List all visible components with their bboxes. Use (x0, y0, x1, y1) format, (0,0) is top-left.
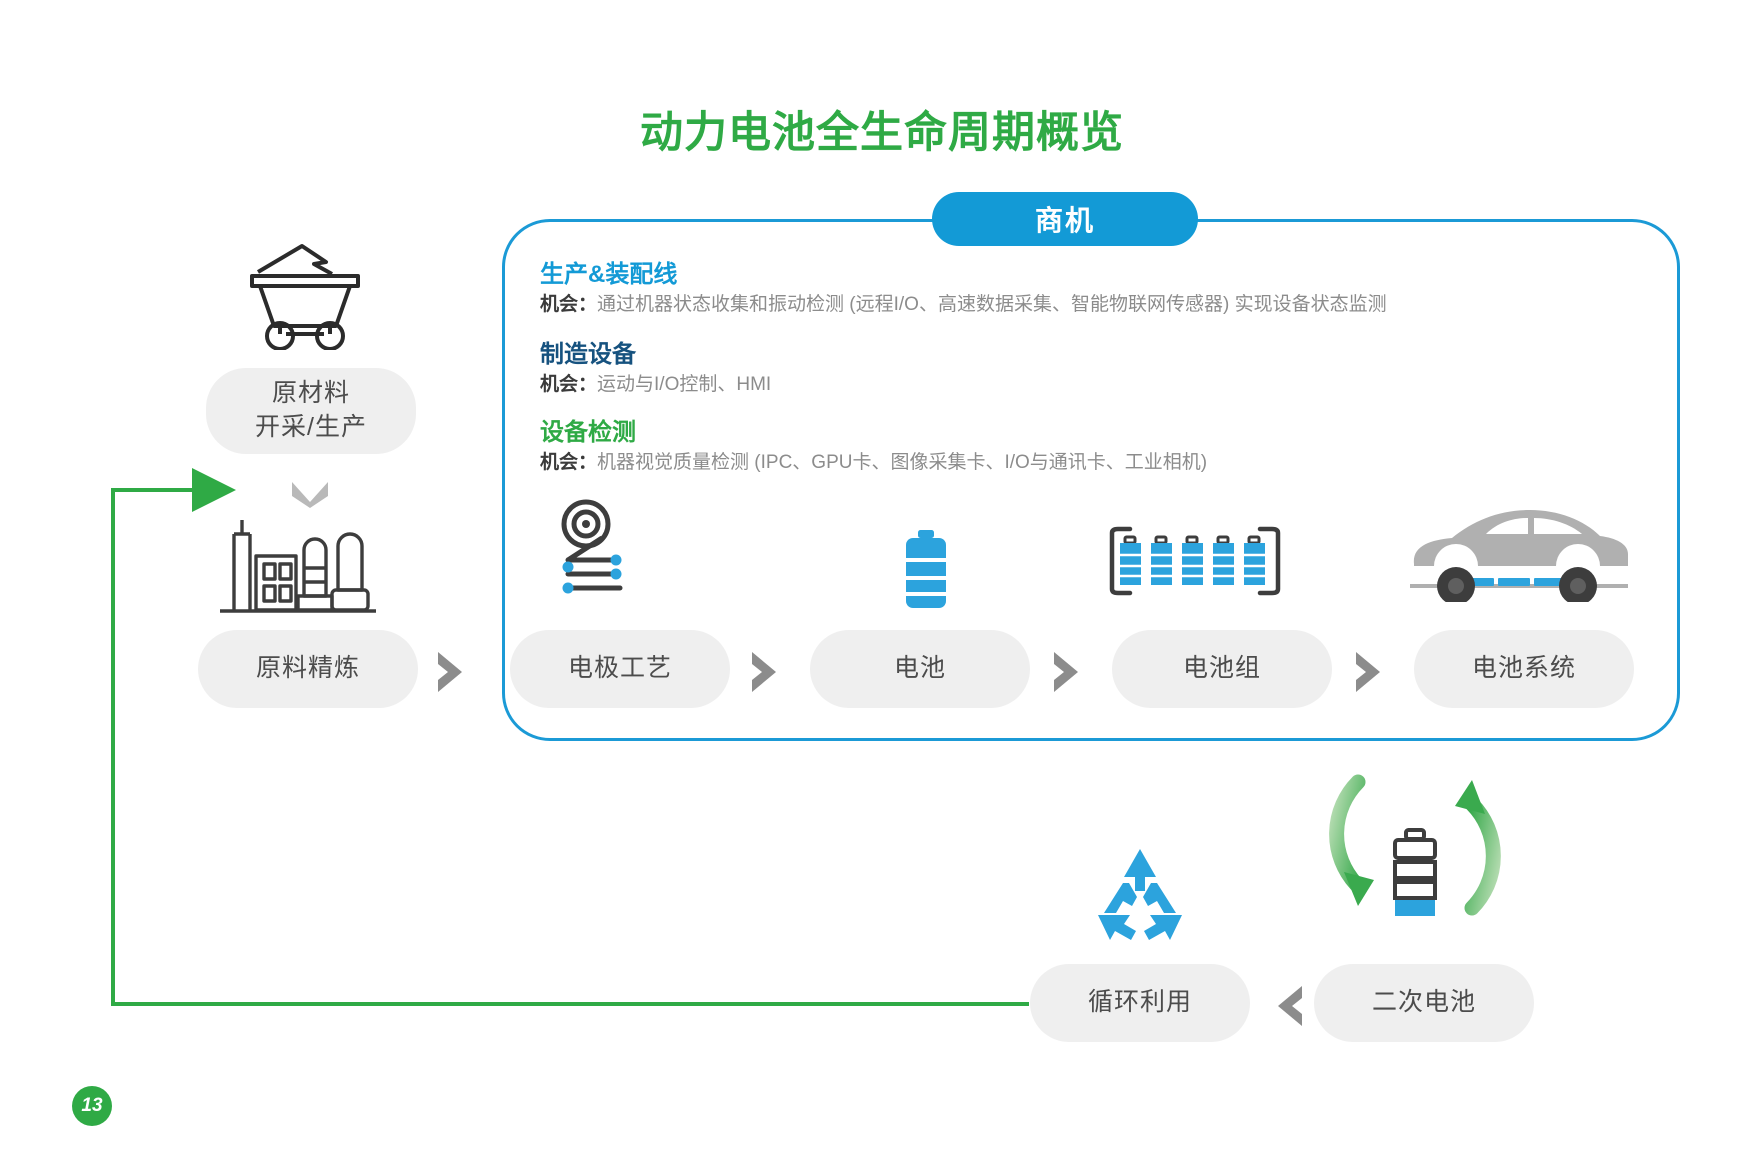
recycle-icon (1090, 845, 1190, 941)
stage-label-line1: 原材料 (255, 377, 367, 411)
stage-pill-recycle[interactable]: 循环利用 (1030, 964, 1250, 1042)
ev-car-icon (1400, 492, 1638, 602)
battery-cell-icon (898, 528, 954, 614)
opportunity-text: 通过机器状态收集和振动检测 (远程I/O、高速数据采集、智能物联网传感器) 实现… (597, 294, 1387, 315)
stage-pill-system[interactable]: 电池系统 (1414, 630, 1634, 708)
opportunity-label: 机会： (540, 374, 597, 395)
opportunity-label: 机会： (540, 294, 597, 315)
stage-label: 电极工艺 (568, 652, 672, 686)
stage-label: 电池系统 (1472, 652, 1576, 686)
chevron-down-icon (288, 478, 332, 515)
slide-canvas: 动力电池全生命周期概览 商机 (0, 0, 1764, 1172)
page-title: 动力电池全生命周期概览 (0, 98, 1764, 160)
stage-label: 电池组 (1183, 652, 1261, 686)
stage-label: 原料精炼 (256, 652, 360, 686)
opportunity-label: 机会： (540, 452, 597, 473)
opportunity-block-production: 生产&装配线 机会：通过机器状态收集和振动检测 (远程I/O、高速数据采集、智能… (540, 262, 1387, 317)
opportunity-heading: 制造设备 (540, 342, 771, 368)
refinery-plant-icon (212, 512, 382, 622)
chevron-right-icon-4 (1350, 650, 1388, 694)
page-number-badge: 13 (72, 1086, 112, 1126)
chevron-right-icon-2 (746, 650, 784, 694)
opportunity-block-inspection: 设备检测 机会：机器视觉质量检测 (IPC、GPU卡、图像采集卡、I/O与通讯卡… (540, 420, 1207, 475)
opportunity-body: 机会：运动与I/O控制、HMI (540, 374, 771, 397)
panel-badge-opportunity: 商机 (932, 192, 1198, 246)
opportunity-body: 机会：机器视觉质量检测 (IPC、GPU卡、图像采集卡、I/O与通讯卡、工业相机… (540, 452, 1207, 475)
stage-pill-module[interactable]: 电池组 (1112, 630, 1332, 708)
second-life-battery-icon (1386, 828, 1444, 918)
stage-label: 循环利用 (1088, 986, 1192, 1020)
opportunity-heading: 生产&装配线 (540, 262, 1387, 288)
opportunity-heading: 设备检测 (540, 420, 1207, 446)
chevron-right-icon-1 (432, 650, 470, 694)
battery-pack-icon (1100, 525, 1290, 597)
stage-pill-electrode[interactable]: 电极工艺 (510, 630, 730, 708)
stage-label: 二次电池 (1372, 986, 1476, 1020)
opportunity-text: 运动与I/O控制、HMI (597, 374, 771, 395)
opportunity-text: 机器视觉质量检测 (IPC、GPU卡、图像采集卡、I/O与通讯卡、工业相机) (597, 452, 1207, 473)
chevron-right-icon-3 (1048, 650, 1086, 694)
stage-pill-second-life[interactable]: 二次电池 (1314, 964, 1534, 1042)
mining-cart-icon (240, 240, 370, 350)
stage-pill-raw-material[interactable]: 原材料 开采/生产 (206, 368, 416, 454)
stage-pill-refining[interactable]: 原料精炼 (198, 630, 418, 708)
stage-pill-cell[interactable]: 电池 (810, 630, 1030, 708)
electrode-roll-icon (540, 498, 660, 608)
opportunity-body: 机会：通过机器状态收集和振动检测 (远程I/O、高速数据采集、智能物联网传感器)… (540, 294, 1387, 317)
opportunity-block-manufacturing: 制造设备 机会：运动与I/O控制、HMI (540, 342, 771, 397)
stage-label: 电池 (894, 652, 946, 686)
stage-label-line2: 开采/生产 (255, 411, 367, 445)
chevron-left-icon (1270, 984, 1308, 1028)
